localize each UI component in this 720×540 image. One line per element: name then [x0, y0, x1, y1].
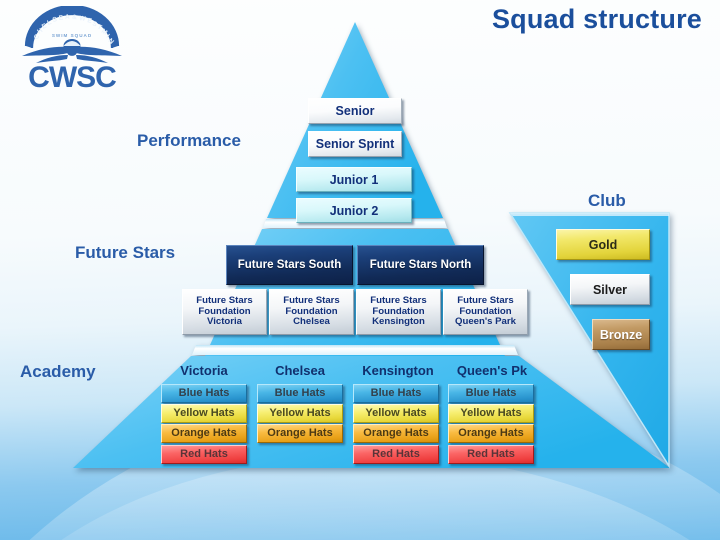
slide-canvas: C H E L S E A & W E S T M I N SWIM SQUAD — [0, 0, 720, 540]
hat-box-chelsea-orange[interactable]: Orange Hats — [257, 424, 343, 443]
squad-box-senior-sprint[interactable]: Senior Sprint — [308, 131, 402, 157]
fs-foundation-line1: Future Stars — [370, 296, 427, 307]
hat-box-kensington-red[interactable]: Red Hats — [353, 445, 439, 464]
fs-foundation-line3: Chelsea — [293, 317, 330, 328]
hat-box-queens-pk-red[interactable]: Red Hats — [448, 445, 534, 464]
hat-box-kensington-yellow[interactable]: Yellow Hats — [353, 404, 439, 423]
fs-foundation-line3: Queen's Park — [455, 317, 516, 328]
tier-label-performance: Performance — [137, 131, 241, 151]
club-level-box-bronze[interactable]: Bronze — [592, 319, 650, 350]
academy-group-header-queens-pk: Queen's Pk — [448, 363, 536, 378]
hat-box-chelsea-yellow[interactable]: Yellow Hats — [257, 404, 343, 423]
fs-foundation-line1: Future Stars — [283, 296, 340, 307]
squad-box-fs-foundation-victoria[interactable]: Future Stars Foundation Victoria — [182, 289, 267, 335]
squad-box-fs-foundation-chelsea[interactable]: Future Stars Foundation Chelsea — [269, 289, 354, 335]
hat-box-victoria-orange[interactable]: Orange Hats — [161, 424, 247, 443]
hat-box-kensington-orange[interactable]: Orange Hats — [353, 424, 439, 443]
tier-label-club: Club — [588, 191, 626, 211]
fs-foundation-line3: Victoria — [207, 317, 242, 328]
hat-box-queens-pk-blue[interactable]: Blue Hats — [448, 384, 534, 403]
squad-box-fs-foundation-queens-park[interactable]: Future Stars Foundation Queen's Park — [443, 289, 528, 335]
hat-box-queens-pk-yellow[interactable]: Yellow Hats — [448, 404, 534, 423]
tier-label-future-stars: Future Stars — [75, 243, 175, 263]
hat-box-chelsea-blue[interactable]: Blue Hats — [257, 384, 343, 403]
squad-box-junior-2[interactable]: Junior 2 — [296, 198, 412, 223]
fs-foundation-line3: Kensington — [372, 317, 425, 328]
club-level-box-gold[interactable]: Gold — [556, 229, 650, 260]
hat-box-victoria-red[interactable]: Red Hats — [161, 445, 247, 464]
hat-box-queens-pk-orange[interactable]: Orange Hats — [448, 424, 534, 443]
hat-box-victoria-yellow[interactable]: Yellow Hats — [161, 404, 247, 423]
fs-foundation-line1: Future Stars — [196, 296, 253, 307]
squad-box-future-stars-north[interactable]: Future Stars North — [357, 245, 484, 285]
squad-box-junior-1[interactable]: Junior 1 — [296, 167, 412, 192]
academy-group-header-kensington: Kensington — [352, 363, 444, 378]
hat-box-victoria-blue[interactable]: Blue Hats — [161, 384, 247, 403]
squad-box-future-stars-south[interactable]: Future Stars South — [226, 245, 353, 285]
squad-box-senior[interactable]: Senior — [308, 98, 402, 124]
fs-foundation-line1: Future Stars — [457, 296, 514, 307]
squad-box-fs-foundation-kensington[interactable]: Future Stars Foundation Kensington — [356, 289, 441, 335]
tier-label-academy: Academy — [20, 362, 96, 382]
academy-group-header-victoria: Victoria — [161, 363, 247, 378]
hat-box-kensington-blue[interactable]: Blue Hats — [353, 384, 439, 403]
academy-group-header-chelsea: Chelsea — [257, 363, 343, 378]
club-level-box-silver[interactable]: Silver — [570, 274, 650, 305]
